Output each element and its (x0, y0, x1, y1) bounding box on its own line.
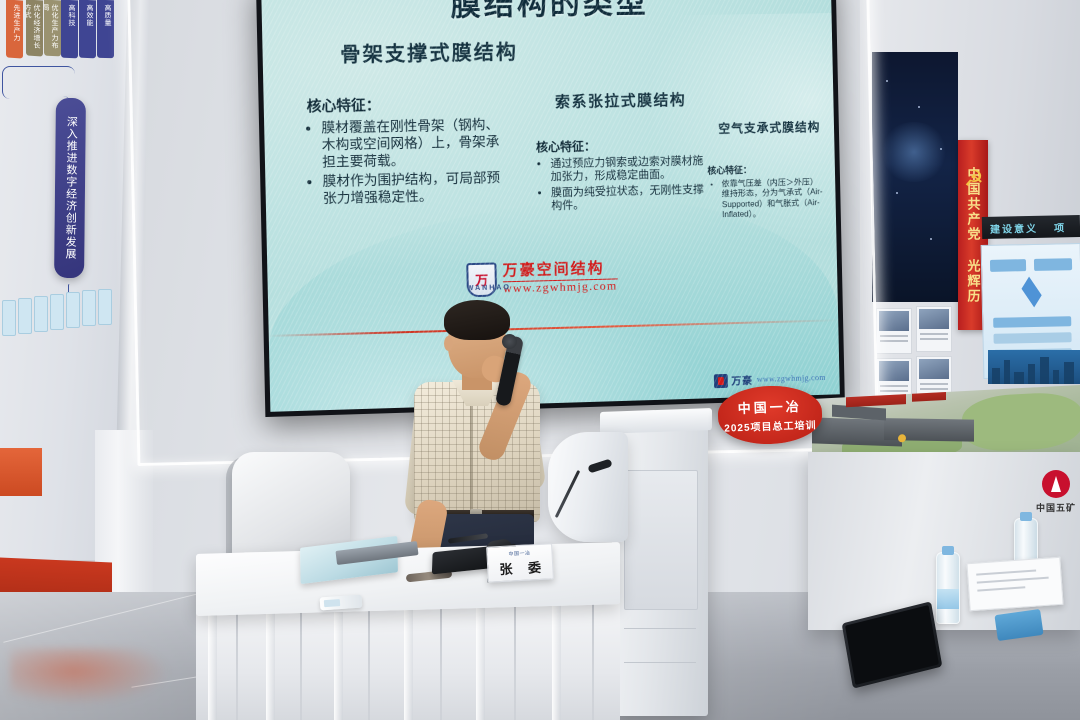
wall-chip-2 (34, 296, 48, 332)
slide-bullet: 膜面为纯受拉状态，无刚性支撑构件。 (551, 183, 706, 213)
board-box (1034, 258, 1072, 271)
slide-column-lead-3: 核心特征： (707, 163, 823, 176)
wall-tab-1: 优化经济增长方式 (26, 0, 43, 57)
minmetals-logo-icon (1042, 470, 1070, 498)
slide-column-body-1: 核心特征： 膜材覆盖在刚性骨架（钢构、木构或空间网格）上，骨架承担主要荷载。 膜… (307, 96, 502, 210)
lectern-top-surface (600, 408, 712, 434)
star-dot (886, 80, 888, 82)
photo-card-line (920, 333, 948, 335)
table-skirt (196, 600, 620, 720)
wall-diagram-connector-1 (2, 66, 75, 99)
slide-watermark-text: 万豪空间结构 www.zgwhmjg.com (502, 260, 617, 296)
floor-red-reflection (10, 648, 170, 706)
slide-column-heading-2: 索系张拉式膜结构 (555, 89, 687, 112)
board-diamond (1022, 277, 1042, 308)
slide-title: 膜结构的类型 (450, 0, 649, 24)
slide-corner-logo-cn: 万豪 (731, 372, 753, 388)
event-badge-line-1: 中国一冶 (737, 396, 802, 417)
board-box (990, 259, 1026, 272)
exhibit-header-label-1: 建设意义 (990, 219, 1038, 235)
photo-card-image (879, 361, 909, 381)
wall-chip-1 (18, 298, 32, 334)
event-badge-line-2: 2025项目总工培训 (724, 416, 817, 434)
photo-card-line (880, 385, 908, 387)
skyline-building (1064, 362, 1074, 384)
slide-column-bullets-2: 通过预应力钢索或边索对膜材施加张力，形成稳定曲面。 膜面为纯受拉状态，无刚性支撑… (536, 154, 706, 213)
slide-column-lead-2: 核心特征： (536, 138, 705, 155)
wall-tab-0: 先进生产力 (6, 0, 23, 59)
star-dot (930, 238, 932, 240)
skirt-pleat (592, 600, 594, 720)
wall-chip-6 (98, 289, 112, 325)
night-sky-photo-panel (872, 52, 958, 302)
photo-card-image (919, 359, 949, 379)
exhibit-header-label-2: 项 (1054, 219, 1066, 234)
remote-keypad-icon (324, 599, 340, 607)
wall-chip-0 (2, 300, 16, 336)
photo-card-image (879, 311, 909, 331)
nebula-glow (880, 122, 948, 182)
card-text-line (977, 586, 1025, 591)
presenter-hair (444, 300, 510, 340)
card-text-line (977, 577, 1049, 584)
slide-column-heading-1: 骨架支撑式膜结构 (340, 36, 518, 68)
wall-tab-4: 高效能 (79, 0, 96, 58)
bottle-cap (1020, 512, 1032, 521)
left-wall-capsule-banner: 深入推进数字经济创新发展 (54, 98, 86, 278)
slide-column-body-2: 核心特征： 通过预应力钢索或边索对膜材施加张力，形成稳定曲面。 膜面为纯受拉状态… (536, 138, 706, 216)
star-dot (918, 106, 920, 108)
minmetals-logo-label: 中国五矿 (1036, 501, 1076, 514)
slide-column-bullets-3: 依靠气压差（内压＞外压）维持形态，分为气承式（Air-Supported）和气胀… (708, 177, 825, 221)
skyline-building (1004, 360, 1010, 384)
star-dot (896, 192, 898, 194)
watermark-company-en: WANHAO (467, 284, 511, 292)
photo-card (876, 308, 912, 354)
watermark-url: www.zgwhmjg.com (503, 279, 618, 296)
nameplate-name: 张 委 (493, 556, 548, 578)
skirt-pleat (476, 600, 485, 720)
skirt-pleat (236, 600, 238, 720)
skirt-pleat (440, 600, 442, 720)
board-box (993, 332, 1071, 344)
skyline-building (1014, 372, 1024, 384)
skyline-building (1028, 364, 1035, 384)
skirt-pleat (514, 600, 516, 720)
nameplate: 中国一冶 张 委 (486, 543, 554, 582)
skirt-pleat (334, 600, 343, 720)
bottle-cap (942, 546, 954, 555)
left-wall-capsule-label: 深入推进数字经济创新发展 (62, 116, 77, 260)
photo-card (916, 306, 952, 352)
slide-bullet: 依靠气压差（内压＞外压）维持形态，分为气承式（Air-Supported）和气胀… (721, 177, 824, 221)
minmetals-logo: 中国五矿 (1036, 470, 1076, 528)
wall-tab-3: 高科技 (61, 0, 78, 58)
slide-column-bullets-1: 膜材覆盖在刚性骨架（钢构、木构或空间网格）上，骨架承担主要荷载。 膜材作为围护结… (307, 116, 501, 207)
slide-bullet: 膜材作为围护结构，可局部预张力增强稳定性。 (322, 169, 501, 207)
card-text-line (976, 569, 1036, 575)
skirt-pleat (208, 600, 217, 720)
wall-tab-5: 高质量 (97, 0, 114, 58)
lectern-seam (624, 662, 696, 663)
lectern-seam (624, 628, 696, 629)
presenter-ear (444, 336, 453, 351)
lectern-front-panel (624, 470, 698, 610)
bottle-label (937, 589, 959, 609)
slide-bullet: 通过预应力钢索或边索对膜材施加张力，形成稳定曲面。 (550, 154, 705, 184)
photo-card-line (920, 388, 948, 390)
skirt-pleat (404, 600, 413, 720)
skyline-building (992, 368, 1000, 384)
hammer-sickle-icon: ☭ (964, 168, 990, 194)
left-wall-orange-block (0, 448, 42, 496)
photo-card-line (920, 383, 948, 385)
presenter-shirt-placket (470, 400, 473, 518)
photo-card-line (880, 335, 908, 337)
nameplate-org-label: 中国一冶 (508, 549, 530, 557)
slide-column-lead-1: 核心特征： (307, 96, 500, 117)
water-bottle (936, 552, 960, 624)
board-box (993, 316, 1071, 328)
slide-bullet: 膜材覆盖在刚性骨架（钢构、木构或空间网格）上，骨架承担主要荷载。 (321, 116, 500, 171)
skirt-pleat (552, 600, 561, 720)
skirt-pleat (300, 600, 302, 720)
photo-card-line (880, 340, 908, 342)
model-green-field (962, 391, 1080, 453)
skyline-building (1040, 357, 1049, 384)
photo-card-image (919, 309, 949, 329)
info-card-on-table (966, 557, 1063, 611)
photo-card-line (920, 338, 948, 340)
slide-corner-logo-url: www.zgwhmjg.com (757, 373, 826, 384)
screenshot-root: 先进生产力 优化经济增长方式 优化生产力布局 高科技 高效能 高质量 深入推进数… (0, 0, 1080, 720)
slide-column-body-3: 核心特征： 依靠气压差（内压＞外压）维持形态，分为气承式（Air-Support… (707, 163, 824, 223)
skirt-pleat (368, 600, 370, 720)
wall-tab-2: 优化生产力布局 (44, 0, 61, 56)
wall-chip-3 (50, 294, 64, 330)
lectern-side-console (548, 432, 628, 542)
wall-chip-4 (66, 292, 80, 328)
city-skyline-graphic (988, 350, 1080, 384)
skirt-pleat (266, 600, 275, 720)
photo-card-line (880, 390, 908, 392)
exhibit-section-header-bar: 建设意义 项 (982, 215, 1080, 239)
skyline-building (1053, 370, 1059, 384)
slide-column-heading-3: 空气支承式膜结构 (718, 118, 820, 137)
wall-chip-5 (82, 290, 96, 326)
wanhao-logo-mark-icon (713, 373, 727, 387)
